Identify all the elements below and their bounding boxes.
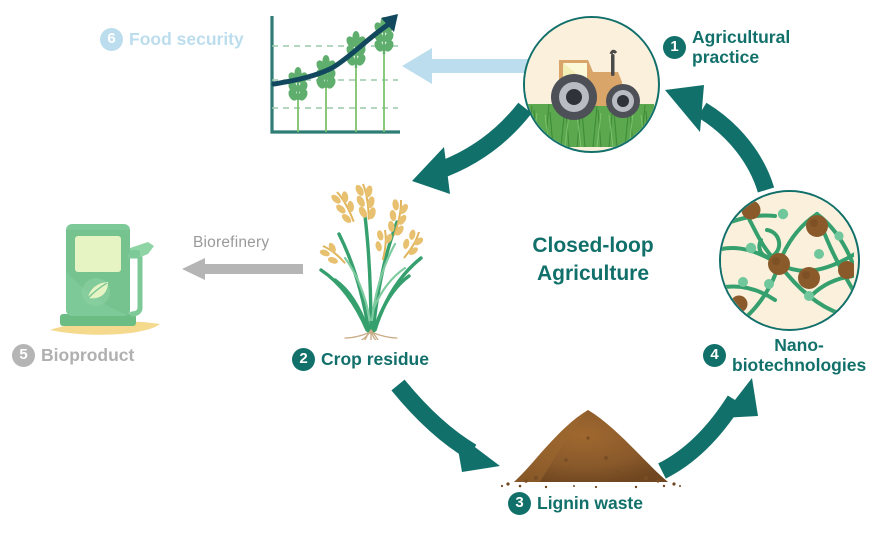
badge-6: 6 xyxy=(100,28,123,51)
badge-5: 5 xyxy=(12,344,35,367)
node-label-agricultural-practice: 1 Agricultural practice xyxy=(663,28,790,67)
arrow-practice-to-food-security xyxy=(398,46,528,92)
soil-pile-icon xyxy=(496,398,686,490)
nanoparticle-network-icon xyxy=(719,190,860,331)
label-bioproduct: Bioproduct xyxy=(41,346,134,366)
badge-2: 2 xyxy=(292,348,315,371)
node-label-lignin-waste: 3 Lignin waste xyxy=(508,492,643,515)
tractor-in-field-icon xyxy=(523,16,660,153)
rice-plant-icon xyxy=(305,170,445,340)
label-lignin-waste: Lignin waste xyxy=(537,494,643,514)
label-food-security: Food security xyxy=(129,30,244,50)
growth-chart-wheat-icon xyxy=(264,12,404,140)
arrow-biorefinery xyxy=(178,256,303,282)
node-label-crop-residue: 2 Crop residue xyxy=(292,348,429,371)
label-crop-residue: Crop residue xyxy=(321,350,429,370)
arrow-residue-to-lignin xyxy=(398,385,500,472)
badge-4: 4 xyxy=(703,344,726,367)
label-agricultural-practice: Agricultural practice xyxy=(692,28,790,67)
badge-1: 1 xyxy=(663,36,686,59)
closed-loop-agriculture-diagram: Closed-loop Agriculture xyxy=(0,0,892,536)
node-label-nano-biotechnologies: 4 Nano- biotechnologies xyxy=(703,336,866,375)
label-nano-biotechnologies: Nano- biotechnologies xyxy=(732,336,866,375)
arrow-biorefinery-label: Biorefinery xyxy=(193,234,269,252)
arrow-nano-to-practice xyxy=(665,85,766,190)
biofuel-pump-icon xyxy=(48,212,178,342)
node-label-bioproduct: 5 Bioproduct xyxy=(12,344,134,367)
badge-3: 3 xyxy=(508,492,531,515)
node-label-food-security: 6 Food security xyxy=(100,28,244,51)
